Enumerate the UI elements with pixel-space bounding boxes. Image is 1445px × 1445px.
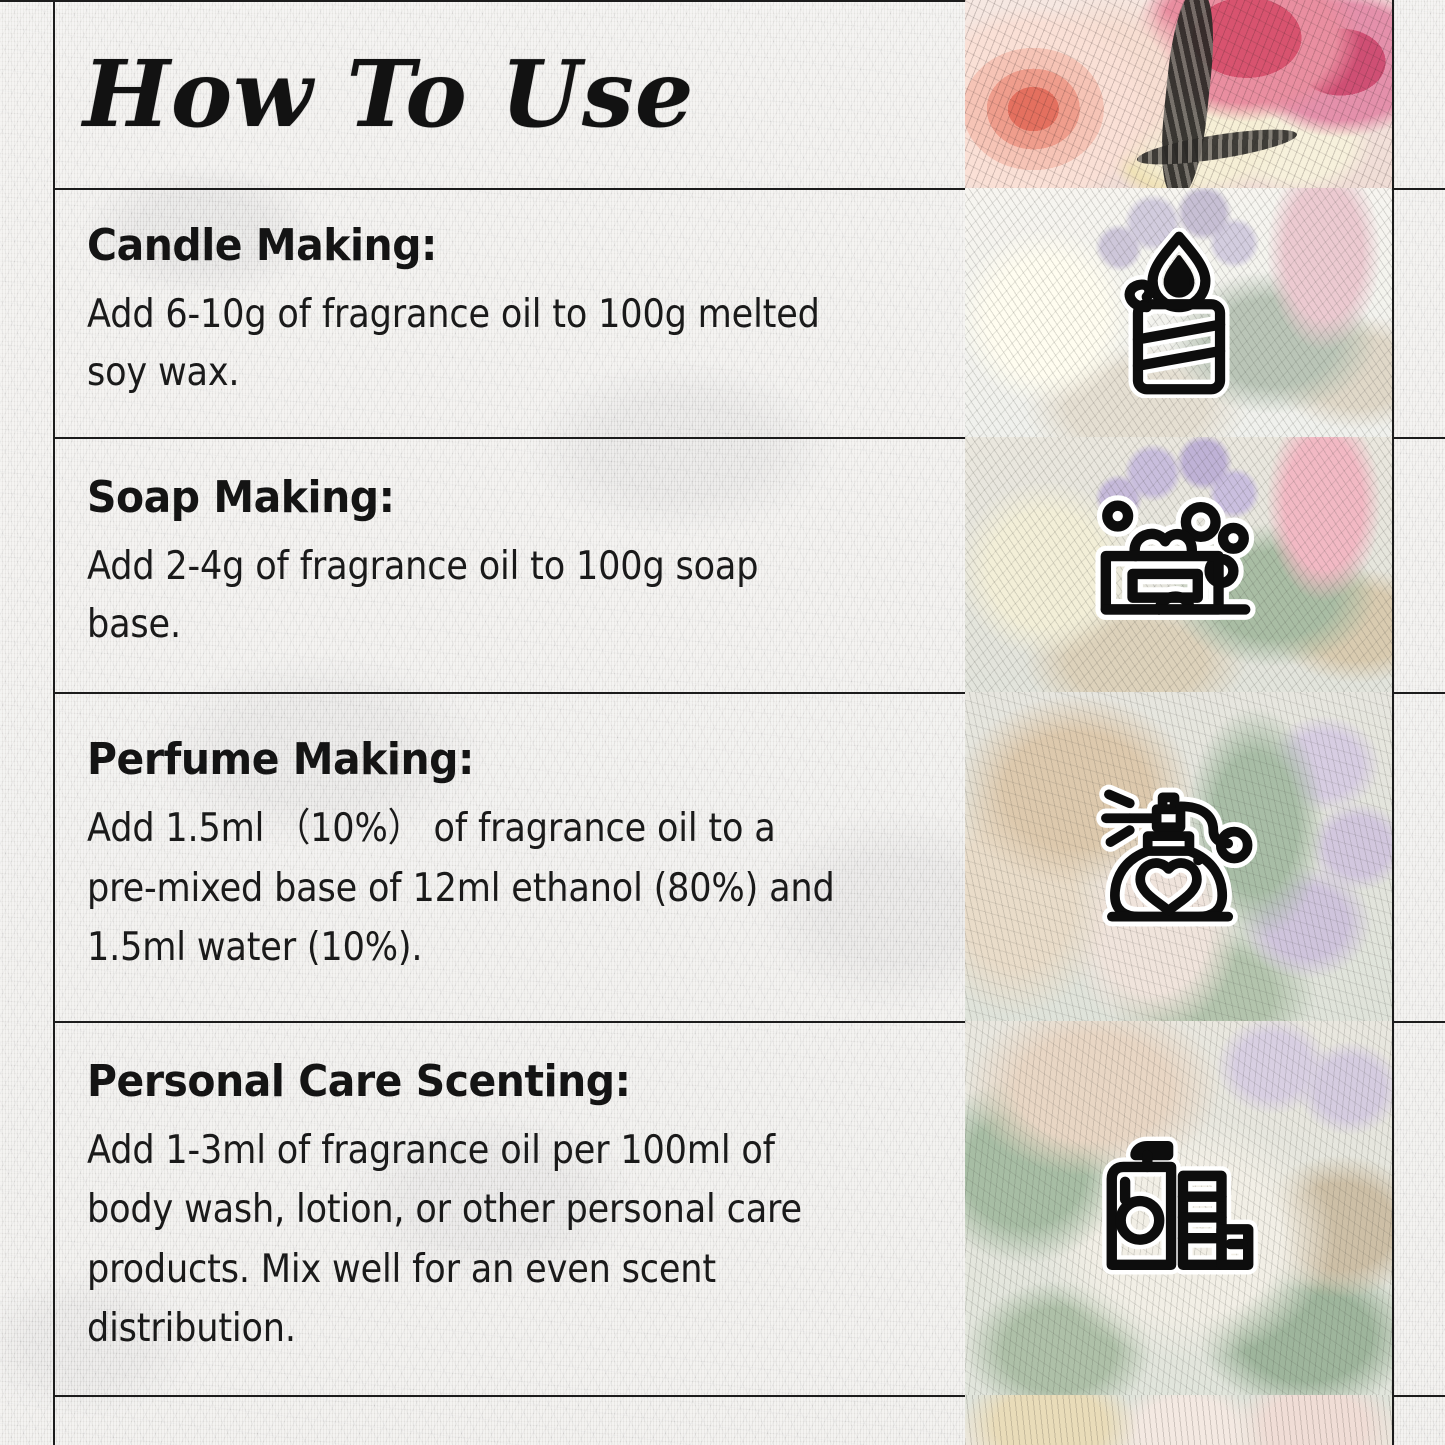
personal-care-photo-margin xyxy=(1392,1021,1445,1395)
candle-making-body: Add 6-10g of fragrance oil to 100g melte… xyxy=(87,286,847,403)
perfume-making-title: Perfume Making: xyxy=(87,736,872,784)
header-media-cell xyxy=(965,0,1445,188)
candle-icon-wrap xyxy=(965,188,1392,437)
header-photo-margin xyxy=(1392,0,1445,188)
next-section-photo-margin xyxy=(1392,1395,1445,1445)
candle-media-cell xyxy=(965,188,1445,437)
section-row-soap-making: Soap Making: Add 2-4g of fragrance oil t… xyxy=(53,437,1445,692)
soap-making-body: Add 2-4g of fragrance oil to 100g soap b… xyxy=(87,538,847,655)
candle-making-title: Candle Making: xyxy=(87,222,872,270)
soap-text-cell: Soap Making: Add 2-4g of fragrance oil t… xyxy=(53,437,965,692)
personal-care-icon-wrap xyxy=(965,1021,1392,1395)
perfume-media-cell xyxy=(965,692,1445,1021)
section-row-candle-making: Candle Making: Add 6-10g of fragrance oi… xyxy=(53,188,1445,437)
botanical-illustration-next xyxy=(965,1395,1392,1445)
perfume-making-body: Add 1.5ml （10%） of fragrance oil to a pr… xyxy=(87,799,847,977)
section-row-next-partial xyxy=(53,1395,1445,1445)
next-section-media-cell xyxy=(965,1395,1445,1445)
header-row: How To Use xyxy=(53,0,1445,188)
next-section-photo xyxy=(965,1395,1394,1445)
perfume-text-cell: Perfume Making: Add 1.5ml （10%） of fragr… xyxy=(53,692,965,1021)
personal-care-text-cell: Personal Care Scenting: Add 1-3ml of fra… xyxy=(53,1021,965,1395)
personal-care-scenting-body: Add 1-3ml of fragrance oil per 100ml of … xyxy=(87,1121,847,1358)
candle-text-cell: Candle Making: Add 6-10g of fragrance oi… xyxy=(53,188,965,437)
how-to-use-infographic: How To Use Candle Making: Add 6-10g of f… xyxy=(0,0,1445,1445)
soap-making-title: Soap Making: xyxy=(87,474,872,522)
candle-icon xyxy=(1104,228,1254,398)
lotion-bottle-tube-soap-icon xyxy=(1091,1131,1266,1286)
perfume-atomizer-icon xyxy=(1094,782,1264,932)
personal-care-media-cell xyxy=(965,1021,1445,1395)
section-row-personal-care-scenting: Personal Care Scenting: Add 1-3ml of fra… xyxy=(53,1021,1445,1395)
next-section-text-cell xyxy=(53,1395,965,1445)
soap-bar-icon xyxy=(1091,490,1266,640)
header-text-cell: How To Use xyxy=(53,0,965,188)
soap-icon-wrap xyxy=(965,437,1392,692)
section-row-perfume-making: Perfume Making: Add 1.5ml （10%） of fragr… xyxy=(53,692,1445,1021)
candle-photo-margin xyxy=(1392,188,1445,437)
perfume-photo-margin xyxy=(1392,692,1445,1021)
perfume-icon-wrap xyxy=(965,692,1392,1021)
personal-care-scenting-title: Personal Care Scenting: xyxy=(87,1058,872,1106)
perfume-droplet-icon xyxy=(1193,854,1203,864)
header-photo xyxy=(965,0,1394,188)
soap-media-cell xyxy=(965,437,1445,692)
page-title: How To Use xyxy=(83,48,931,140)
soap-photo-margin xyxy=(1392,437,1445,692)
